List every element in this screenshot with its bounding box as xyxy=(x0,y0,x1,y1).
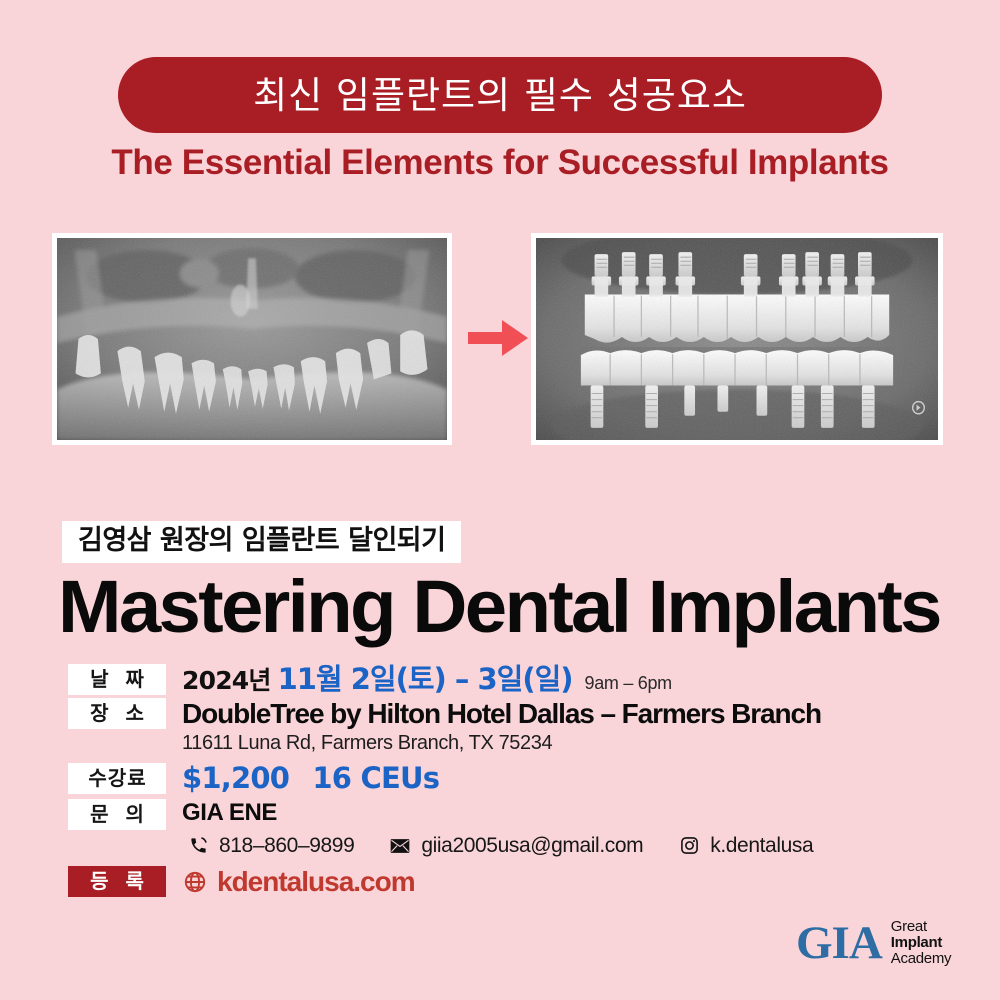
after-implants-xray xyxy=(536,238,938,440)
contact-email[interactable]: giia2005usa@gmail.com xyxy=(388,834,643,858)
header-title-pill: 최신 임플란트의 필수 성공요소 xyxy=(118,57,882,133)
label-date: 날 짜 xyxy=(68,664,166,695)
gia-logo: GIA Great Implant Academy xyxy=(796,919,951,968)
before-xray-frame xyxy=(52,233,452,445)
date-year: 2024년 xyxy=(182,667,271,695)
venue-address: 11611 Luna Rd, Farmers Branch, TX 75234 xyxy=(182,732,968,755)
transformation-arrow xyxy=(466,315,530,361)
after-xray-frame xyxy=(531,233,943,445)
venue-values: DoubleTree by Hilton Hotel Dallas – Farm… xyxy=(166,698,968,755)
instagram-handle: k.dentalusa xyxy=(710,834,813,858)
gia-logo-wordmark: Great Implant Academy xyxy=(891,919,951,968)
gia-word-great: Great xyxy=(891,919,951,935)
header-title-korean: 최신 임플란트의 필수 성공요소 xyxy=(253,77,747,114)
detail-row-fee: 수강료 $1,200 16 CEUs xyxy=(68,763,968,795)
phone-icon xyxy=(186,836,210,855)
fee-values: $1,200 16 CEUs xyxy=(166,763,968,795)
date-values: 2024년 11월 2일(토) – 3일(일) 9am – 6pm xyxy=(166,664,968,696)
registration-values[interactable]: kdentalusa.com xyxy=(166,866,415,898)
contact-phone[interactable]: 818–860–9899 xyxy=(186,834,354,858)
envelope-icon xyxy=(388,838,412,854)
venue-name: DoubleTree by Hilton Hotel Dallas – Farm… xyxy=(182,698,968,730)
detail-row-date: 날 짜 2024년 11월 2일(토) – 3일(일) 9am – 6pm xyxy=(68,664,968,696)
fee-price: $1,200 xyxy=(182,761,289,795)
registration-url[interactable]: kdentalusa.com xyxy=(217,866,415,898)
date-time: 9am – 6pm xyxy=(585,674,672,694)
label-contact: 문 의 xyxy=(68,799,166,830)
event-details: 날 짜 2024년 11월 2일(토) – 3일(일) 9am – 6pm 장 … xyxy=(68,664,968,900)
email-address: giia2005usa@gmail.com xyxy=(421,834,643,858)
globe-icon xyxy=(182,870,208,894)
date-range: 11월 2일(토) – 3일(일) xyxy=(278,664,573,696)
contact-organization: GIA ENE xyxy=(182,799,968,828)
gia-word-academy: Academy xyxy=(891,951,951,967)
contact-instagram[interactable]: k.dentalusa xyxy=(677,834,813,858)
xray-comparison xyxy=(0,233,1000,448)
detail-row-registration: 등 록 kdentalusa.com xyxy=(68,866,968,898)
contact-values: GIA ENE 818–860–9899 xyxy=(166,799,968,858)
label-venue: 장 소 xyxy=(68,698,166,729)
detail-row-contact: 문 의 GIA ENE 818–860–9899 xyxy=(68,799,968,858)
gia-word-implant: Implant xyxy=(891,935,951,951)
label-registration: 등 록 xyxy=(68,866,166,897)
instagram-icon xyxy=(677,836,701,855)
korean-kicker-title: 김영삼 원장의 임플란트 달인되기 xyxy=(62,521,461,563)
fee-ceus: 16 CEUs xyxy=(312,761,439,795)
gia-logo-mark: GIA xyxy=(796,920,882,967)
label-fee: 수강료 xyxy=(68,763,166,794)
phone-number: 818–860–9899 xyxy=(219,834,354,858)
detail-row-venue: 장 소 DoubleTree by Hilton Hotel Dallas – … xyxy=(68,698,968,755)
header-subtitle-english: The Essential Elements for Successful Im… xyxy=(0,143,1000,183)
page-title: Mastering Dental Implants xyxy=(58,570,940,644)
before-panoramic-xray xyxy=(57,238,447,440)
